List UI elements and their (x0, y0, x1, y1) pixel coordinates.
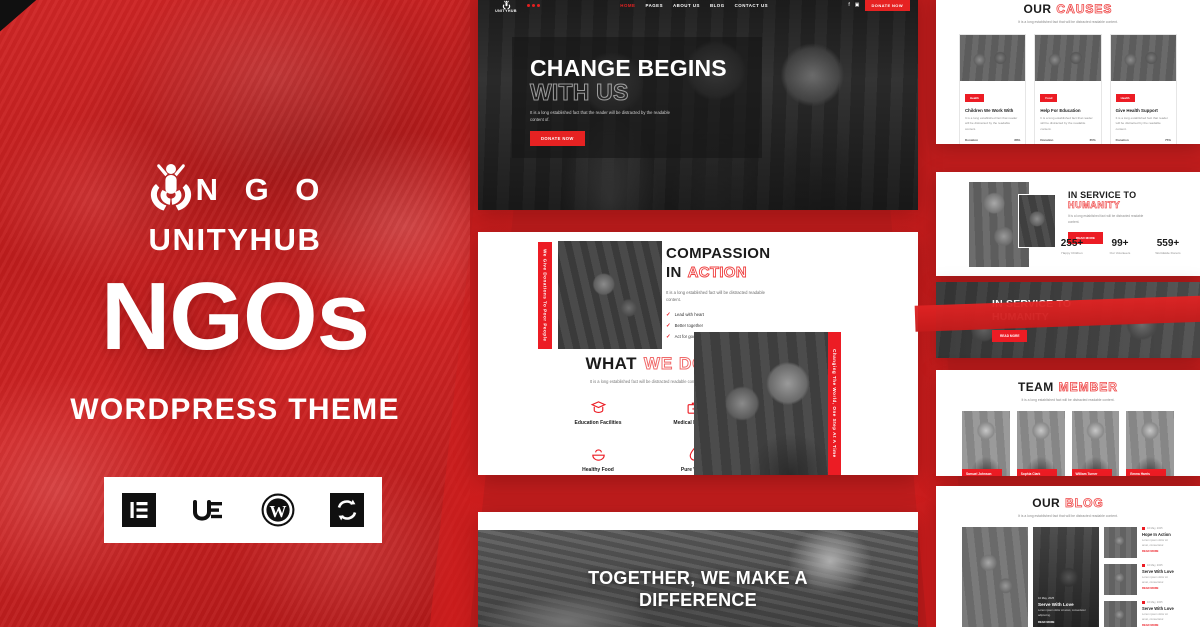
humanity-title-line1: IN SERVICE TO (1068, 190, 1188, 200)
donation-percent: 88% (1014, 138, 1020, 142)
promo-banner: RESPONSIVE (0, 0, 1200, 627)
blog-post-date: 10 May, 2025 (1142, 564, 1174, 567)
blog-post-title: Hope In Action (1142, 532, 1174, 537)
humanity-content: IN SERVICE TO HUMANITY It is a long esta… (1068, 190, 1188, 244)
brand-logo: N G O UNITYHUB (0, 160, 470, 258)
team-member-name: Samuel Johnson (962, 469, 1002, 476)
cause-title: Help For Education (1040, 108, 1095, 113)
list-item[interactable]: 10 May, 2025 Serve With Love Lorem ipsum… (1104, 564, 1174, 595)
responsive-refresh-icon (330, 493, 364, 527)
compatibility-badges: W (104, 477, 382, 543)
books-icon (550, 397, 646, 417)
blog-featured-date: 10 May, 2025 (1038, 597, 1094, 600)
screenshot-our-causes[interactable]: OUR CAUSES It is a long established fact… (936, 0, 1200, 144)
navbar-donate-button[interactable]: DONATE NOW (865, 0, 910, 11)
facebook-icon[interactable]: f (848, 2, 849, 8)
donation-percent: 75% (1165, 138, 1171, 142)
blog-post-description: Lorem ipsum dolor sit amet, consectetur. (1142, 613, 1174, 622)
causes-heading: OUR CAUSES It is a long established fact… (936, 0, 1200, 25)
healthy-food-icon (550, 444, 646, 464)
team-member-card[interactable]: Sophia Clark (1017, 411, 1065, 476)
cause-card[interactable]: Health Children We Work With It is a lon… (959, 34, 1026, 144)
unyson-icon (191, 493, 225, 527)
stat-label: Worldwide Donors (1144, 251, 1192, 255)
hero-paragraph: It is a long established fact that the r… (530, 109, 680, 123)
hero-title-line2: WITH US (530, 80, 744, 104)
causes-title-solid: OUR (1024, 2, 1052, 16)
stat-label: Our Volunteers (1096, 251, 1144, 255)
what-we-do-title-solid: WHAT (586, 354, 637, 374)
checklist-label: Better together (675, 323, 703, 328)
blog-post-date: 10 May, 2025 (1142, 527, 1174, 530)
nav-item-pages[interactable]: PAGES (645, 3, 663, 8)
team-member-name: Emma Harris (1126, 469, 1166, 476)
site-navbar: UNITYHUB HOME PAGES ABOUT US BLOG CONTAC… (478, 0, 918, 18)
stat-item: 99+ Our Volunteers (1096, 238, 1144, 255)
banner-top-spacer (478, 512, 918, 530)
cause-description: It is a long established fact that reade… (1116, 116, 1171, 132)
children-photo (694, 332, 828, 475)
blog-photo-large[interactable] (962, 527, 1028, 627)
promo-left-panel: RESPONSIVE (0, 0, 470, 627)
blog-thumbnail (1104, 564, 1137, 595)
list-item[interactable]: 10 May, 2025 Serve With Love Lorem ipsum… (1104, 601, 1174, 627)
blog-post-title: Serve With Love (1142, 569, 1174, 574)
humanity-paragraph: It is a long established fact will be di… (1068, 214, 1154, 226)
list-item: ✓ Lead with heart (666, 312, 778, 318)
cause-description: It is a long established fact that reade… (1040, 116, 1095, 132)
team-member-card[interactable]: William Turner (1072, 411, 1120, 476)
cause-title: Children We Work With (965, 108, 1020, 113)
status-badge: Health (1116, 94, 1135, 102)
team-title-solid: TEAM (1018, 380, 1054, 394)
stat-number: 99+ (1096, 238, 1144, 249)
blog-post-list: 10 May, 2025 Hope In Action Lorem ipsum … (1104, 527, 1174, 627)
navbar-dots-decoration (527, 4, 540, 7)
center-screenshot-column: UNITYHUB HOME PAGES ABOUT US BLOG CONTAC… (478, 0, 918, 627)
list-item[interactable]: 10 May, 2025 Hope In Action Lorem ipsum … (1104, 527, 1174, 558)
cause-card[interactable]: Food Help For Education It is a long est… (1034, 34, 1101, 144)
causes-title-outline: CAUSES (1056, 2, 1112, 16)
instagram-icon[interactable]: ▣ (855, 2, 860, 8)
person-in-hands-icon (142, 160, 200, 220)
blog-featured-title: Serve With Love (1038, 602, 1094, 607)
cause-photo (1111, 35, 1176, 81)
blog-thumbnail (1104, 527, 1137, 558)
calendar-dot-icon (1142, 564, 1145, 567)
donation-label: Donation (1040, 138, 1053, 142)
check-icon: ✓ (666, 334, 671, 340)
brand-logo-primary: N G O (196, 172, 329, 208)
calendar-dot-icon (1142, 527, 1145, 530)
list-item: ✓ Better together (666, 323, 778, 329)
stat-item: 559+ Worldwide Donors (1144, 238, 1192, 255)
screenshot-team-member[interactable]: TEAM MEMBER It is a long established fac… (936, 370, 1200, 476)
navbar-logo-label: UNITYHUB (495, 9, 517, 13)
blog-post-date: 10 May, 2025 (1142, 601, 1174, 604)
compassion-title-line1: COMPASSION (666, 246, 778, 263)
stat-number: 559+ (1144, 238, 1192, 249)
team-member-card[interactable]: Samuel Johnson (962, 411, 1010, 476)
service-label: Education Facilities (550, 420, 646, 426)
svg-text:W: W (269, 502, 286, 521)
page-subtitle: WORDPRESS THEME (0, 393, 470, 427)
stat-item: 255+ Happy Children (1048, 238, 1096, 255)
blog-thumbnail (1104, 601, 1137, 627)
team-member-card[interactable]: Emma Harris (1126, 411, 1174, 476)
checklist-label: Lead with heart (675, 312, 704, 317)
nav-item-about-us[interactable]: ABOUT US (673, 3, 700, 8)
blog-featured-card[interactable]: 10 May, 2025 Serve With Love Lorem ipsum… (1033, 527, 1099, 627)
cause-photo (960, 35, 1025, 81)
cta-title-line1: TOGETHER, WE MAKE A (478, 568, 918, 590)
donation-label: Donation (965, 138, 978, 142)
navbar-logo[interactable]: UNITYHUB (486, 0, 526, 13)
vertical-label-changing-world: Changing The World, One Step At A Time (828, 332, 841, 475)
cause-card[interactable]: Health Give Health Support It is a long … (1110, 34, 1177, 144)
blog-post-description: Lorem ipsum dolor sit amet, consectetur. (1142, 576, 1174, 585)
nav-item-contact-us[interactable]: CONTACT US (735, 3, 768, 8)
blog-title-outline: BLOG (1065, 496, 1104, 510)
team-member-name: William Turner (1072, 469, 1112, 476)
screenshot-homepage-hero[interactable]: UNITYHUB HOME PAGES ABOUT US BLOG CONTAC… (478, 0, 918, 210)
compassion-title-line2-outline: ACTION (688, 264, 747, 281)
blog-heading: OUR BLOG It is a long established fact t… (936, 486, 1200, 519)
screenshot-cta-banner[interactable]: TOGETHER, WE MAKE A DIFFERENCE (478, 512, 918, 627)
wordpress-icon: W (261, 493, 295, 527)
blog-post-description: Lorem ipsum dolor sit amet, consectetur. (1142, 539, 1174, 548)
humanity-title-line2: HUMANITY (1068, 200, 1188, 210)
hero-content-box: CHANGE BEGINS WITH US It is a long estab… (512, 37, 762, 158)
stat-label: Happy Children (1048, 251, 1096, 255)
calendar-dot-icon (1142, 601, 1145, 604)
nav-item-home[interactable]: HOME (620, 3, 635, 8)
person-in-hands-icon (501, 0, 512, 9)
navbar-menu: HOME PAGES ABOUT US BLOG CONTACT US (620, 3, 768, 8)
service-item[interactable]: Education Facilities (550, 397, 646, 426)
hero-donate-button[interactable]: DONATE NOW (530, 131, 585, 146)
nav-item-blog[interactable]: BLOG (710, 3, 725, 8)
service-item[interactable]: Healthy Food (550, 444, 646, 473)
team-heading: TEAM MEMBER It is a long established fac… (936, 370, 1200, 403)
cause-description: It is a long established fact that reade… (965, 116, 1020, 132)
cause-title: Give Health Support (1116, 108, 1171, 113)
compassion-title-line2-solid: IN (666, 264, 682, 281)
screenshot-our-blog[interactable]: OUR BLOG It is a long established fact t… (936, 486, 1200, 627)
vertical-label-donations: We Give Donations To Poor People (538, 242, 552, 349)
page-title: NGOs (0, 272, 470, 362)
stats-row: 255+ Happy Children 99+ Our Volunteers 5… (1048, 238, 1192, 255)
screenshot-about-services[interactable]: We Give Donations To Poor People Changin… (478, 232, 918, 475)
banner-read-more-button[interactable]: READ MORE (992, 330, 1027, 342)
cause-photo (1035, 35, 1100, 81)
status-badge: Health (965, 94, 984, 102)
cta-title: TOGETHER, WE MAKE A DIFFERENCE (478, 568, 918, 612)
stat-number: 255+ (1048, 238, 1096, 249)
service-label: Healthy Food (550, 467, 646, 473)
blog-featured-description: Lorem ipsum dolor sit amet, consectetur … (1038, 609, 1094, 618)
team-member-name: Sophia Clark (1017, 469, 1057, 476)
status-badge: Food (1040, 94, 1057, 102)
compassion-photo (558, 241, 662, 349)
blog-post-title: Serve With Love (1142, 606, 1174, 611)
brand-logo-secondary: UNITYHUB (149, 222, 322, 258)
screenshot-in-service-to-humanity[interactable]: IN SERVICE TO HUMANITY It is a long esta… (936, 172, 1200, 276)
hero-title-line1: CHANGE BEGINS (530, 57, 744, 80)
elementor-icon (122, 493, 156, 527)
blog-post-read-more[interactable]: READ MORE (1142, 550, 1174, 553)
check-icon: ✓ (666, 323, 671, 329)
cta-title-line2: DIFFERENCE (478, 590, 918, 612)
check-icon: ✓ (666, 312, 671, 318)
blog-featured-read-more[interactable]: READ MORE (1038, 621, 1094, 624)
blog-post-read-more[interactable]: READ MORE (1142, 587, 1174, 590)
donation-percent: 65% (1090, 138, 1096, 142)
compassion-heading-block: COMPASSION IN ACTION It is a long establ… (666, 246, 778, 340)
blog-title-solid: OUR (1032, 496, 1060, 510)
donation-label: Donation (1116, 138, 1129, 142)
compassion-paragraph: It is a long established fact will be di… (666, 289, 778, 304)
team-title-outline: MEMBER (1059, 380, 1118, 394)
